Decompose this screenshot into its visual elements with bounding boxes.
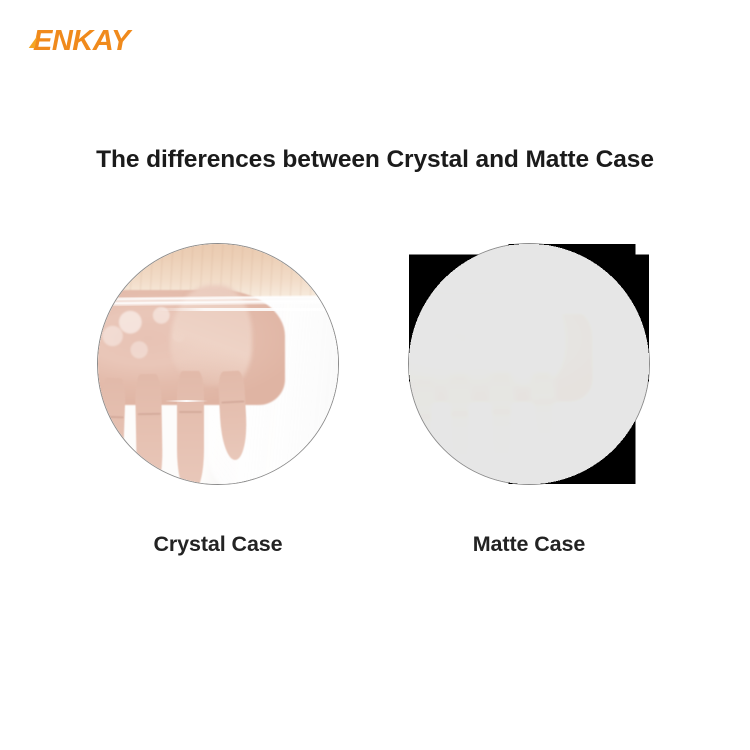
brand-name: ENKAY xyxy=(33,25,130,57)
finger-ring xyxy=(135,373,163,485)
finger-middle xyxy=(177,371,203,485)
caption-matte: Matte Case xyxy=(408,532,650,557)
matte-case-scene xyxy=(409,244,649,484)
comparison-panel-crystal: Crystal Case xyxy=(97,243,339,557)
finger-little xyxy=(98,378,126,485)
brand-logo: ENKAY xyxy=(30,27,130,56)
comparison-row: Crystal Case M xyxy=(0,243,750,573)
caption-crystal: Crystal Case xyxy=(97,532,339,557)
crystal-case-scene xyxy=(98,244,338,484)
crystal-case-photo xyxy=(97,243,339,485)
comparison-panel-matte: Matte Case xyxy=(408,243,650,557)
case-glare-speck xyxy=(165,400,208,402)
product-comparison-page: ENKAY The differences between Crystal an… xyxy=(0,0,750,750)
matte-frost-overlay xyxy=(408,243,650,485)
page-title: The differences between Crystal and Matt… xyxy=(0,146,750,174)
case-edge-highlight-secondary xyxy=(156,308,339,311)
matte-case-photo xyxy=(408,243,650,485)
